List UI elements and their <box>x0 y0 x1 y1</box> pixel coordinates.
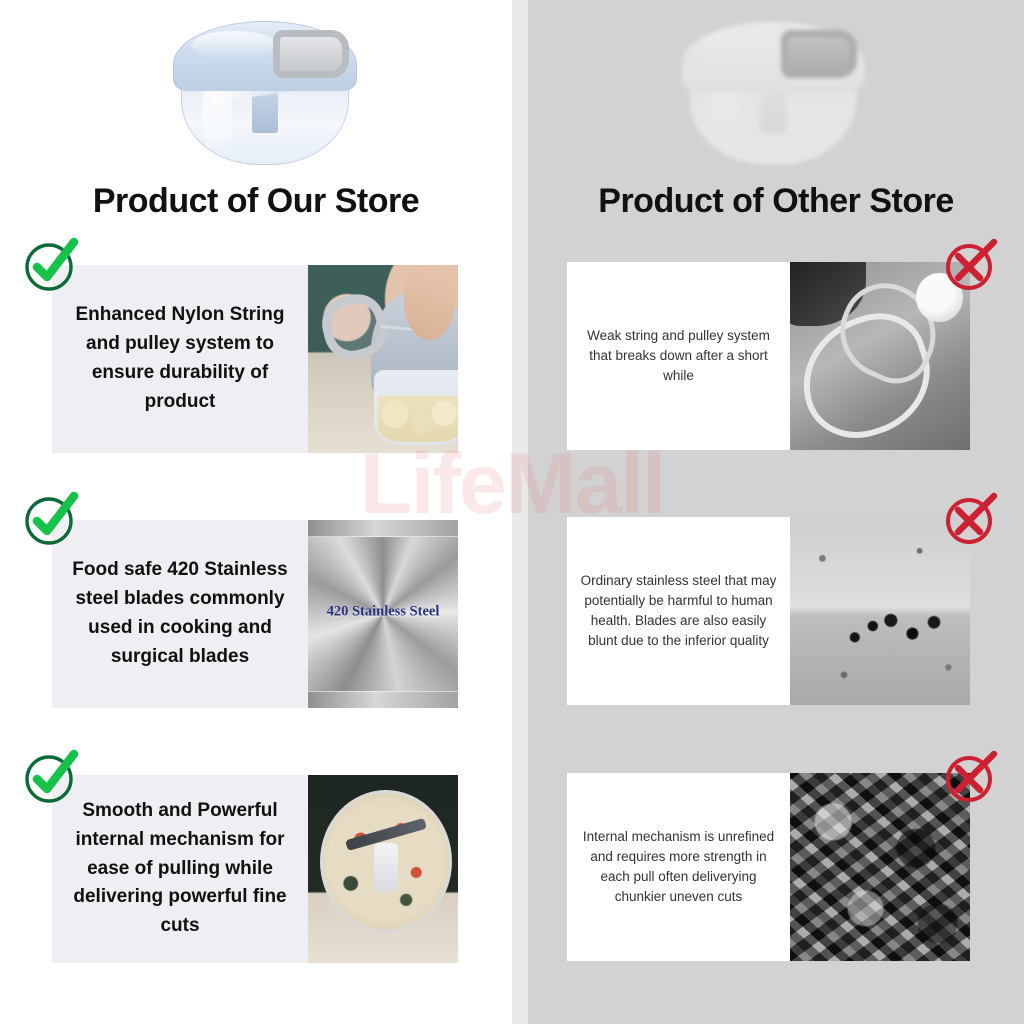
veg-blade-photo <box>374 843 398 892</box>
panel-divider <box>512 0 528 1024</box>
our-feature-text-2: Food safe 420 Stainless steel blades com… <box>52 520 308 708</box>
chopper-pull-handle-other <box>781 30 857 78</box>
other-feature-card-2: Ordinary stainless steel that may potent… <box>567 517 970 705</box>
other-feature-text-2: Ordinary stainless steel that may potent… <box>567 517 790 705</box>
check-circle-icon-3 <box>22 748 80 806</box>
cross-circle-icon-1 <box>942 236 1000 294</box>
our-feature-text-3: Smooth and Powerful internal mechanism f… <box>52 775 308 963</box>
our-feature-card-1: Enhanced Nylon String and pulley system … <box>52 265 458 453</box>
other-product-hero-image <box>668 8 878 168</box>
our-store-heading: Product of Our Store <box>0 175 512 227</box>
other-feature-text-3: Internal mechanism is unrefined and requ… <box>567 773 790 961</box>
chopper-jar-photo <box>374 370 458 445</box>
our-feature-card-2: Food safe 420 Stainless steel blades com… <box>52 520 458 708</box>
our-feature-card-3: Smooth and Powerful internal mechanism f… <box>52 775 458 963</box>
steel-top-band <box>308 520 458 537</box>
steel-grade-label: 420 Stainless Steel <box>308 604 458 621</box>
our-product-hero-image <box>160 8 370 168</box>
our-feature-image-1 <box>308 265 458 453</box>
steel-bottom-band <box>308 691 458 708</box>
other-feature-card-3: Internal mechanism is unrefined and requ… <box>567 773 970 961</box>
other-feature-text-1: Weak string and pulley system that break… <box>567 262 790 450</box>
our-feature-image-2: 420 Stainless Steel <box>308 520 458 708</box>
hand-photo <box>404 265 455 340</box>
cross-circle-icon-2 <box>942 490 1000 548</box>
other-store-heading: Product of Other Store <box>528 175 1024 227</box>
check-circle-icon-1 <box>22 236 80 294</box>
our-feature-text-1: Enhanced Nylon String and pulley system … <box>52 265 308 453</box>
chopper-pull-handle <box>273 30 349 78</box>
our-feature-image-3 <box>308 775 458 963</box>
cross-circle-icon-3 <box>942 748 1000 806</box>
check-circle-icon-2 <box>22 490 80 548</box>
other-feature-card-1: Weak string and pulley system that break… <box>567 262 970 450</box>
